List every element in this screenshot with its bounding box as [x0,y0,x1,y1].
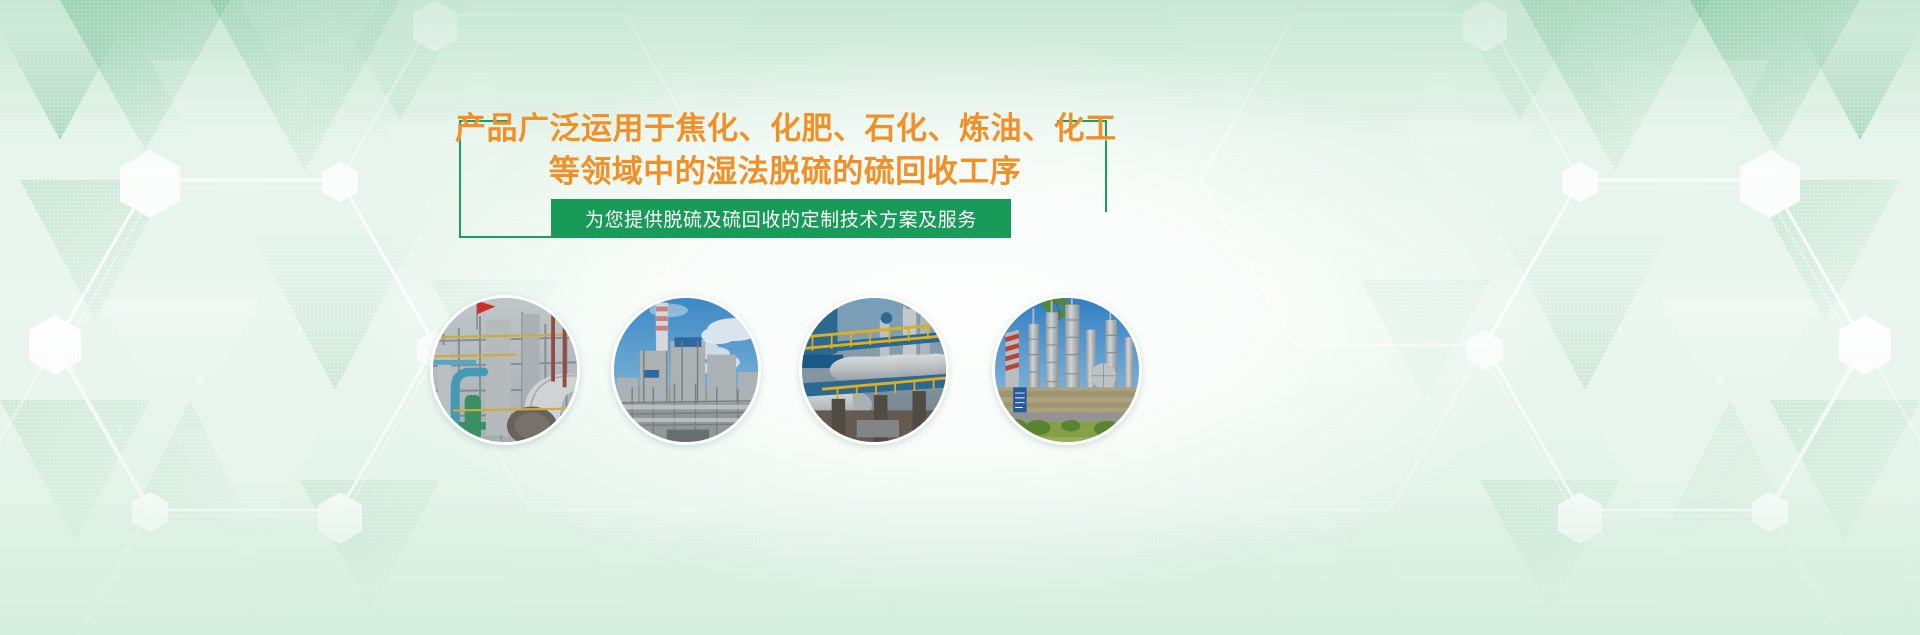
headline-line-1: 产品广泛运用于焦化、化肥、石化、炼油、化工 [455,108,1115,149]
subtitle-text: 为您提供脱硫及硫回收的定制技术方案及服务 [585,205,977,232]
desulfurization-stack-plant-image [611,295,761,445]
photo-circle-2[interactable] [611,295,761,445]
headline-line-2: 等领域中的湿法脱硫的硫回收工序 [455,151,1115,192]
hero-banner: 产品广泛运用于焦化、化肥、石化、炼油、化工 等领域中的湿法脱硫的硫回收工序 为您… [0,0,1920,635]
horizontal-tank-platform-image [799,295,949,445]
photo-circle-3[interactable] [799,295,949,445]
photo-circle-1[interactable] [430,295,580,445]
sulfur-recovery-piping-plant-image [430,295,580,445]
refinery-distillation-towers-image [992,295,1142,445]
photo-row [0,295,1920,445]
headline: 产品广泛运用于焦化、化肥、石化、炼油、化工 等领域中的湿法脱硫的硫回收工序 [455,108,1115,192]
banner-content: 产品广泛运用于焦化、化肥、石化、炼油、化工 等领域中的湿法脱硫的硫回收工序 为您… [0,0,1920,635]
photo-circle-4[interactable] [992,295,1142,445]
subtitle-bar: 为您提供脱硫及硫回收的定制技术方案及服务 [551,199,1011,238]
